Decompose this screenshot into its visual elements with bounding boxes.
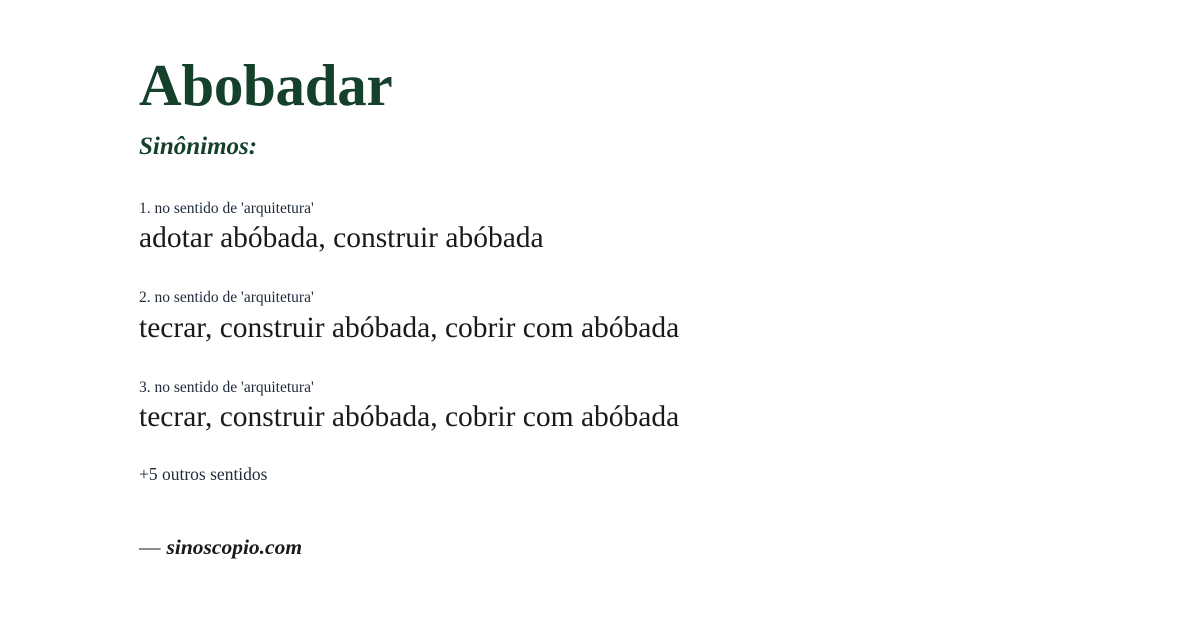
section-subtitle: Sinônimos: bbox=[139, 133, 257, 162]
list-item: 2. no sentido de 'arquitetura' tecrar, c… bbox=[139, 288, 1139, 346]
page-title: Abobadar bbox=[139, 56, 392, 115]
sense-synonyms: tecrar, construir abóbada, cobrir com ab… bbox=[139, 400, 1139, 436]
sense-synonyms: adotar abóbada, construir abóbada bbox=[139, 221, 1139, 257]
synonym-card: Abobadar Sinônimos: 1. no sentido de 'ar… bbox=[0, 0, 1200, 628]
sense-label: 2. no sentido de 'arquitetura' bbox=[139, 288, 1139, 307]
sense-label: 3. no sentido de 'arquitetura' bbox=[139, 378, 1139, 397]
list-item: 1. no sentido de 'arquitetura' adotar ab… bbox=[139, 199, 1139, 257]
source-name: sinoscopio.com bbox=[167, 535, 303, 559]
em-dash: — bbox=[139, 535, 167, 559]
attribution: —sinoscopio.com bbox=[139, 534, 302, 561]
sense-synonyms: tecrar, construir abóbada, cobrir com ab… bbox=[139, 311, 1139, 347]
sense-label: 1. no sentido de 'arquitetura' bbox=[139, 199, 1139, 218]
more-senses-note: +5 outros sentidos bbox=[139, 464, 267, 486]
list-item: 3. no sentido de 'arquitetura' tecrar, c… bbox=[139, 378, 1139, 436]
sense-list: 1. no sentido de 'arquitetura' adotar ab… bbox=[139, 199, 1139, 436]
